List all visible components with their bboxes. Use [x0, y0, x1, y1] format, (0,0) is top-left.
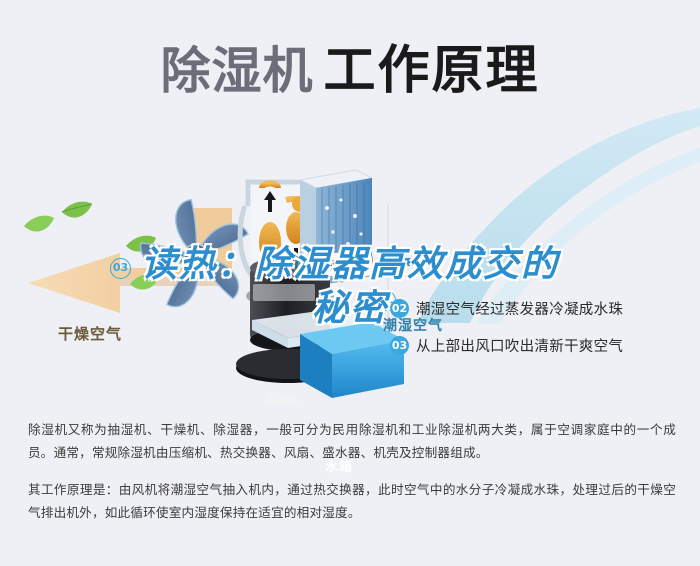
label-dry-air: 干燥空气 — [58, 323, 122, 344]
article-body: 除湿机又称为抽湿机、干燥机、除湿器，一般可分为民用除湿机和工业除湿机两大类，属于… — [28, 418, 676, 524]
page-title: 除湿机工作原理 — [0, 28, 700, 103]
body-paragraph-1: 除湿机又称为抽湿机、干燥机、除湿器，一般可分为民用除湿机和工业除湿机两大类，属于… — [28, 418, 676, 464]
legend-item-02: 02 潮湿空气经过蒸发器冷凝成水珠 — [390, 295, 690, 321]
legend-number-03: 03 — [390, 336, 409, 355]
diagram-badge-03: 03 — [110, 258, 131, 279]
label-compressor: 压缩机 — [265, 391, 298, 407]
legend-number-02: 02 — [390, 299, 409, 318]
title-black-part: 工作原理 — [323, 41, 539, 101]
title-gray-part: 除湿机 — [160, 42, 313, 100]
legend-text-03: 从上部出风口吹出清新干爽空气 — [416, 335, 623, 356]
label-heat-exchanger: 热交换器 — [321, 259, 365, 271]
diagram-badge-02: 02 — [294, 256, 315, 277]
legend-text-02: 潮湿空气经过蒸发器冷凝成水珠 — [416, 298, 623, 319]
heat-exchanger-callout: 热交换器 — [313, 252, 373, 277]
callout-tail-inner-icon — [337, 275, 347, 281]
poster-root: 除湿机工作原理 — [0, 0, 700, 566]
body-paragraph-2: 其工作原理是：由风机将潮湿空气抽入机内，通过热交换器，此时空气中的水分子冷凝成水… — [28, 478, 676, 524]
legend-item-03: 03 从上部出风口吹出清新干爽空气 — [390, 332, 690, 358]
legend-list: 01 风机将潮湿空气抽入机内 02 潮湿空气经过蒸发器冷凝成水珠 03 从上部出… — [390, 258, 690, 369]
